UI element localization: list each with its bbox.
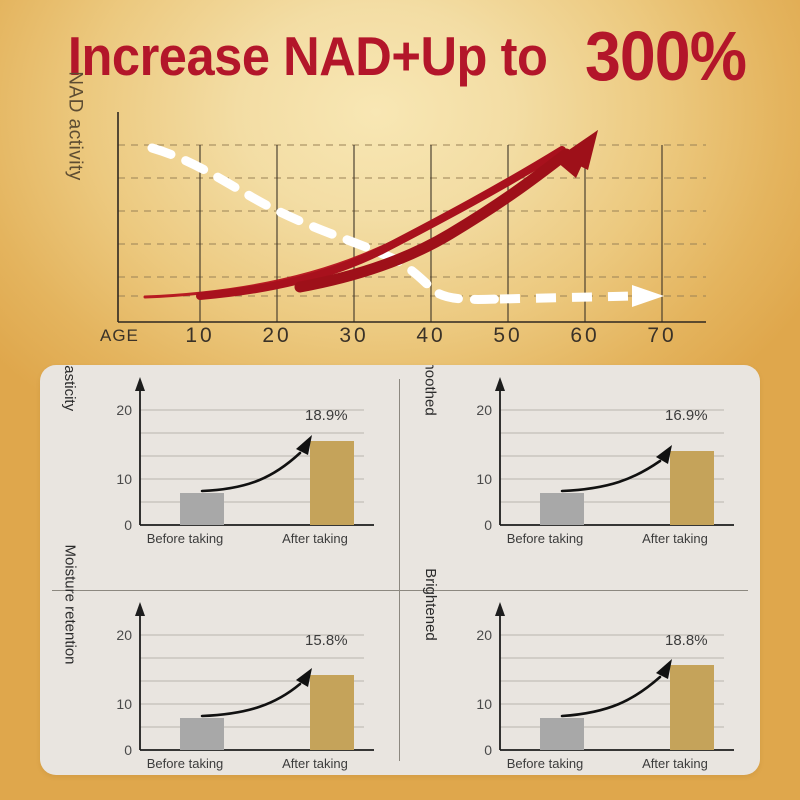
brightened-trend-arrowhead	[656, 659, 672, 679]
elasticity-bar-after	[310, 441, 354, 525]
smoothed-bar-after	[670, 451, 714, 525]
chart-brightened: Brightened 0 10 20	[400, 590, 760, 775]
moisture-bar-after	[310, 675, 354, 750]
chart-smoothed: Smoothed 0 10 20	[400, 365, 760, 590]
nad-xtick-30: 30	[329, 324, 379, 348]
nad-xtick-50: 50	[483, 324, 533, 348]
brightened-bar-after	[670, 665, 714, 750]
brightened-plot: 0 10 20	[434, 590, 760, 775]
chart-moisture-retention: Moisture retention 0 10 20	[40, 590, 400, 775]
moisture-category-before: Before taking	[130, 756, 240, 771]
elasticity-category-after: After taking	[260, 531, 370, 546]
moisture-category-after: After taking	[260, 756, 370, 771]
moisture-plot: 0 10 20	[74, 590, 400, 775]
nad-xtick-10: 10	[175, 324, 225, 348]
nad-activity-chart	[0, 100, 800, 350]
infographic-poster: Increase NAD+Up to 300% NAD activity	[0, 0, 800, 800]
nad-decline-arrowhead	[632, 285, 664, 307]
nad-vertical-gridlines	[200, 145, 662, 322]
elasticity-ytick-10: 10	[116, 471, 132, 487]
moisture-percent-label: 15.8%	[305, 632, 348, 649]
brightened-category-after: After taking	[620, 756, 730, 771]
moisture-ytick-10: 10	[116, 696, 132, 712]
title-main-text: Increase NAD+Up to	[68, 29, 548, 84]
moisture-ytick-20: 20	[116, 627, 132, 643]
benefits-panel: Elasticity 0 10 20	[40, 365, 760, 775]
chart-elasticity: Elasticity 0 10 20	[40, 365, 400, 590]
elasticity-percent-label: 18.9%	[305, 407, 348, 424]
elasticity-plot: 0 10 20	[74, 365, 400, 550]
elasticity-category-before: Before taking	[130, 531, 240, 546]
elasticity-trend-arrow	[202, 453, 300, 491]
smoothed-category-after: After taking	[620, 531, 730, 546]
elasticity-bar-before	[180, 493, 224, 525]
smoothed-plot: 0 10 20	[434, 365, 760, 550]
nad-xtick-70: 70	[637, 324, 687, 348]
title-highlight-text: 300%	[585, 21, 746, 91]
smoothed-y-axis-arrow	[495, 377, 505, 391]
smoothed-ytick-20: 20	[476, 402, 492, 418]
elasticity-y-axis-arrow	[135, 377, 145, 391]
nad-rise-curve	[145, 130, 598, 297]
brightened-percent-label: 18.8%	[665, 632, 708, 649]
smoothed-category-before: Before taking	[490, 531, 600, 546]
moisture-bar-before	[180, 718, 224, 750]
nad-xtick-20: 20	[252, 324, 302, 348]
elasticity-trend-arrowhead	[296, 435, 312, 455]
brightened-y-axis-arrow	[495, 602, 505, 616]
brightened-bar-before	[540, 718, 584, 750]
smoothed-ytick-10: 10	[476, 471, 492, 487]
smoothed-trend-arrow	[562, 461, 660, 491]
nad-age-label: AGE	[100, 326, 139, 346]
moisture-y-axis-arrow	[135, 602, 145, 616]
smoothed-bar-before	[540, 493, 584, 525]
nad-xtick-40: 40	[406, 324, 456, 348]
brightened-trend-arrow	[562, 677, 660, 716]
elasticity-ytick-20: 20	[116, 402, 132, 418]
nad-xtick-60: 60	[560, 324, 610, 348]
smoothed-percent-label: 16.9%	[665, 407, 708, 424]
brightened-ytick-20: 20	[476, 627, 492, 643]
brightened-category-before: Before taking	[490, 756, 600, 771]
brightened-ytick-10: 10	[476, 696, 492, 712]
page-title: Increase NAD+Up to 300%	[0, 18, 800, 94]
moisture-trend-arrow	[202, 684, 300, 716]
